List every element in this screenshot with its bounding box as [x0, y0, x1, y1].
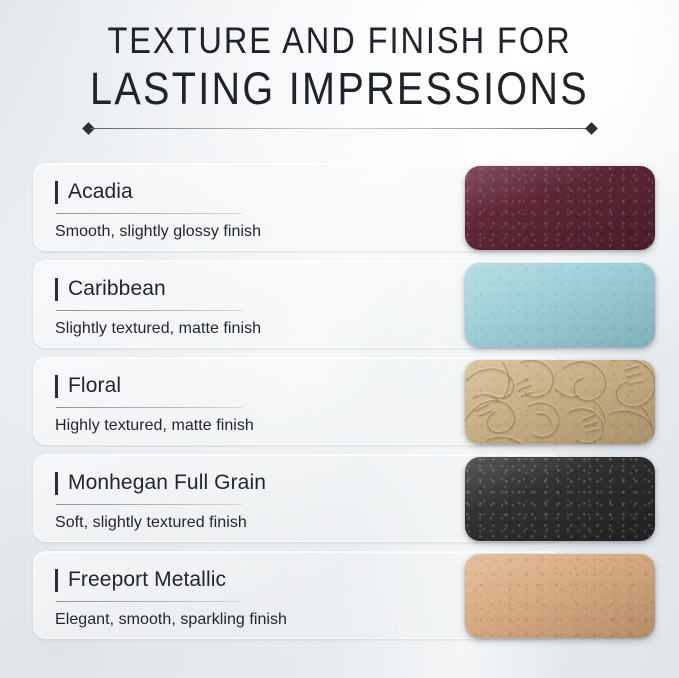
card-body: Caribbean Slightly textured, matte finis… [55, 274, 412, 338]
leather-grain-texture [465, 166, 655, 250]
freeport-metallic-swatch [465, 554, 655, 638]
leather-grain-texture [465, 554, 655, 638]
header: TEXTURE AND FINISH FOR LASTING IMPRESSIO… [0, 18, 679, 135]
finish-description: Elegant, smooth, sparkling finish [55, 611, 412, 629]
finish-name: Monhegan Full Grain [68, 471, 266, 495]
name-row: Monhegan Full Grain [55, 468, 412, 498]
finish-description: Slightly textured, matte finish [55, 320, 412, 338]
name-row: Freeport Metallic [55, 565, 412, 595]
list-item: Acadia Smooth, slightly glossy finish [0, 163, 679, 251]
name-underline [56, 213, 242, 214]
divider-line [90, 128, 590, 129]
leather-grain-texture [465, 263, 655, 347]
floral-swatch [465, 360, 655, 444]
card-body: Monhegan Full Grain Soft, slightly textu… [55, 468, 412, 532]
accent-bar-icon [55, 278, 58, 301]
name-underline [56, 310, 242, 311]
texture-finish-infographic: TEXTURE AND FINISH FOR LASTING IMPRESSIO… [0, 0, 679, 678]
title-divider [82, 123, 598, 135]
list-item: Caribbean Slightly textured, matte finis… [0, 260, 679, 348]
leather-grain-texture [465, 457, 655, 541]
finish-name: Floral [68, 374, 121, 398]
name-row: Caribbean [55, 274, 412, 304]
name-underline [56, 407, 242, 408]
card-body: Acadia Smooth, slightly glossy finish [55, 177, 412, 241]
finish-name: Acadia [68, 180, 133, 204]
finish-list: Acadia Smooth, slightly glossy finish Ca… [0, 163, 679, 648]
list-item: Floral Highly textured, matte finish [0, 357, 679, 445]
name-row: Floral [55, 371, 412, 401]
accent-bar-icon [55, 375, 58, 398]
name-underline [56, 504, 242, 505]
accent-bar-icon [55, 472, 58, 495]
card-body: Freeport Metallic Elegant, smooth, spark… [55, 565, 412, 629]
list-item: Monhegan Full Grain Soft, slightly textu… [0, 454, 679, 542]
finish-name: Freeport Metallic [68, 568, 226, 592]
finish-description: Soft, slightly textured finish [55, 514, 412, 532]
list-item: Freeport Metallic Elegant, smooth, spark… [0, 551, 679, 639]
finish-description: Smooth, slightly glossy finish [55, 223, 412, 241]
finish-description: Highly textured, matte finish [55, 417, 412, 435]
leather-grain-texture [465, 360, 655, 444]
page-title-line-2: LASTING IMPRESSIONS [41, 63, 639, 115]
caribbean-swatch [465, 263, 655, 347]
acadia-swatch [465, 166, 655, 250]
accent-bar-icon [55, 569, 58, 592]
accent-bar-icon [55, 181, 58, 204]
diamond-right-icon [585, 122, 598, 135]
name-row: Acadia [55, 177, 412, 207]
floral-emboss-pattern [465, 360, 655, 444]
page-title-line-1: TEXTURE AND FINISH FOR [41, 18, 639, 63]
finish-name: Caribbean [68, 277, 166, 301]
card-body: Floral Highly textured, matte finish [55, 371, 412, 435]
monhegan-full-grain-swatch [465, 457, 655, 541]
name-underline [56, 601, 242, 602]
